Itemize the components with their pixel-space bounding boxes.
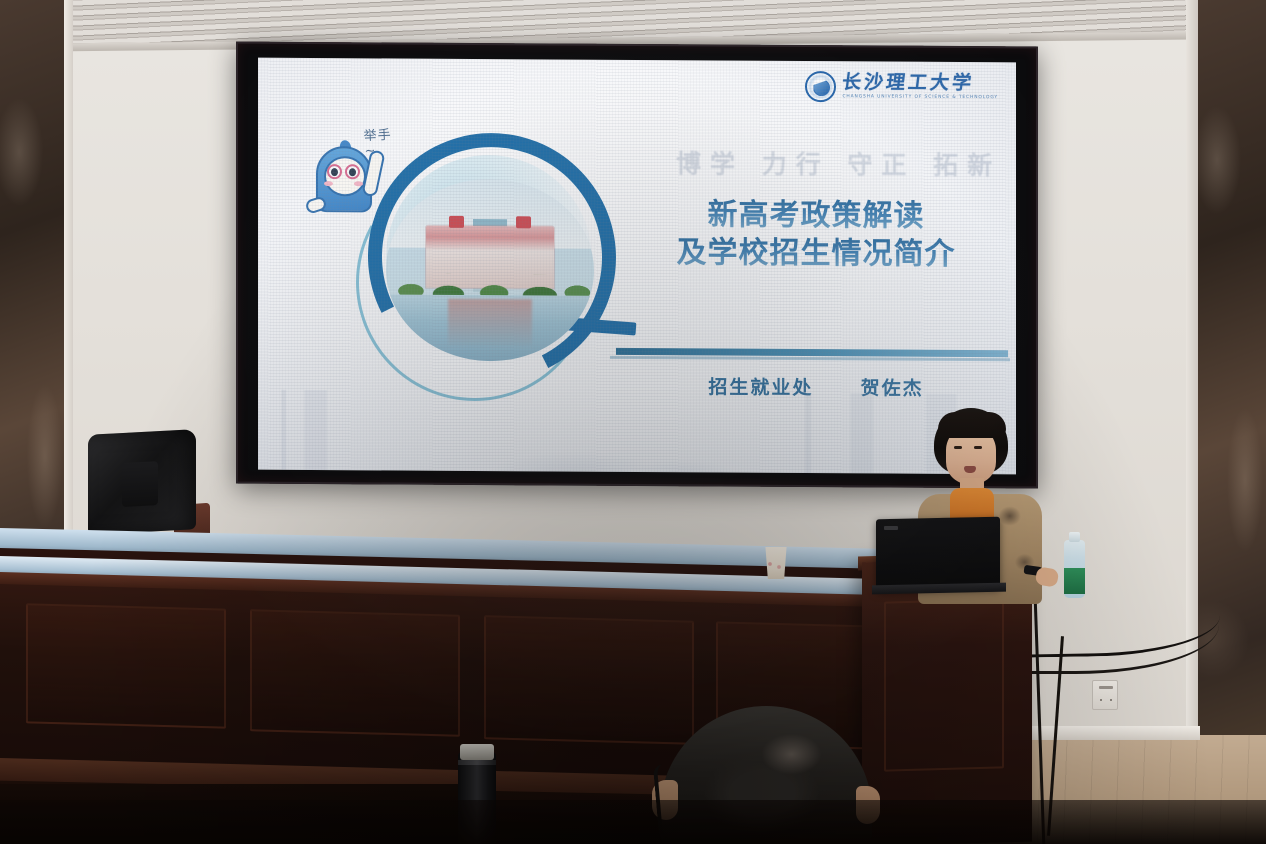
chair-backrest	[88, 429, 196, 535]
slide-title-line-2: 及学校招生情况简介	[630, 234, 1002, 275]
bottle-cap	[1069, 532, 1080, 542]
university-logo-text: 长沙理工大学 CHANGSHA UNIVERSITY OF SCIENCE & …	[842, 74, 998, 101]
water-bottle	[1064, 532, 1085, 598]
conference-room-scene: 长沙理工大学 CHANGSHA UNIVERSITY OF SCIENCE & …	[0, 0, 1266, 844]
thermos-ring	[458, 760, 496, 765]
presenter-eye-left	[954, 446, 962, 449]
power-outlet-icon	[1092, 680, 1118, 710]
podium-panel	[884, 598, 1004, 771]
foreground-vignette	[0, 800, 1266, 844]
slide-title-block: 新高考政策解读 及学校招生情况简介	[630, 196, 1002, 275]
marble-column-right	[1196, 0, 1266, 800]
mascot-eye-left	[331, 168, 338, 176]
campus-building-photo	[386, 178, 594, 361]
presenter-eye-right	[974, 446, 982, 449]
column-trim-right	[1186, 0, 1198, 800]
desk-panel-2	[250, 609, 460, 736]
university-name-en: CHANGSHA UNIVERSITY OF SCIENCE & TECHNOL…	[842, 96, 998, 101]
slide-title-line-1: 新高考政策解读	[630, 196, 1002, 237]
presenter-fringe	[938, 412, 1006, 438]
motto-watermark: 博学 力行 守正 拓新	[676, 144, 1001, 182]
mascot-blush-left	[324, 181, 333, 186]
university-name-cn: 长沙理工大学	[841, 74, 999, 94]
desk-panel-1	[26, 603, 226, 728]
presenter-mouth	[964, 466, 976, 473]
mascot-speech-text: 举手~	[363, 124, 397, 159]
university-logo: 长沙理工大学 CHANGSHA UNIVERSITY OF SCIENCE & …	[805, 71, 998, 103]
slide-surface: 长沙理工大学 CHANGSHA UNIVERSITY OF SCIENCE & …	[258, 58, 1016, 475]
bottle-label	[1064, 568, 1085, 594]
blue-mascot-character: 举手~	[304, 124, 396, 235]
thermos-cap	[460, 744, 494, 760]
paper-cup-pattern	[766, 560, 786, 572]
presentation-slide: 长沙理工大学 CHANGSHA UNIVERSITY OF SCIENCE & …	[258, 58, 1016, 475]
city-skyline-watermark	[258, 390, 1016, 475]
mascot-blush-right	[354, 181, 363, 186]
laptop-logo	[884, 526, 898, 530]
campus-reflection	[448, 299, 531, 347]
university-seal-icon	[805, 71, 836, 102]
mascot-eye-right	[349, 168, 356, 176]
